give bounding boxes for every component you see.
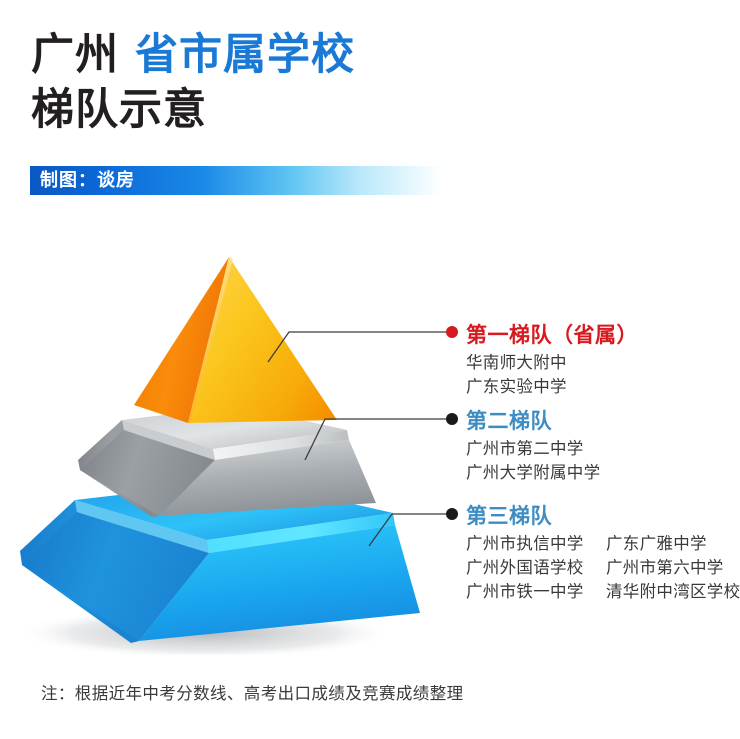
tier-3-school-2a: 广州外国语学校 [466, 556, 606, 580]
pyramid-tier-1-apex [134, 257, 337, 423]
tier-1-school-1: 华南师大附中 [466, 351, 638, 375]
tier-annotation-3: 第三梯队 广州市执信中学 广东广雅中学 广州外国语学校 广州市第六中学 广州市铁… [466, 503, 740, 604]
tier-1-school-2: 广东实验中学 [466, 375, 638, 399]
page-title-category: 省市属学校 [135, 30, 355, 80]
tier-annotation-2: 第二梯队 广州市第二中学 广州大学附属中学 [466, 408, 600, 485]
tier-3-school-3a: 广州市铁一中学 [466, 580, 606, 604]
tier-3-school-row-2: 广州外国语学校 广州市第六中学 [466, 556, 740, 580]
tier-3-school-1a: 广州市执信中学 [466, 532, 606, 556]
tier-3-school-row-1: 广州市执信中学 广东广雅中学 [466, 532, 740, 556]
tier-2-school-2: 广州大学附属中学 [466, 461, 600, 485]
tier-3-school-2b: 广州市第六中学 [606, 556, 724, 580]
page-title-city: 广州 [31, 30, 119, 80]
tier-3-school-row-3: 广州市铁一中学 清华附中湾区学校 [466, 580, 740, 604]
page-title-line-2: 梯队示意 [31, 89, 207, 132]
footnote: 注：根据近年中考分数线、高考出口成绩及竞赛成绩整理 [41, 683, 464, 705]
tier-annotation-1: 第一梯队（省属） 华南师大附中 广东实验中学 [466, 322, 638, 399]
tier-3-school-1b: 广东广雅中学 [606, 532, 707, 556]
tier-3-school-3b: 清华附中湾区学校 [606, 580, 740, 604]
credit-label: 制图：谈房 [40, 171, 135, 191]
tier-2-school-1: 广州市第二中学 [466, 437, 600, 461]
pyramid-diagram [0, 235, 470, 655]
tier-1-heading: 第一梯队（省属） [466, 322, 638, 348]
infographic-page: 广州 省市属学校 梯队示意 制图：谈房 [0, 0, 740, 739]
tier-3-heading: 第三梯队 [466, 503, 740, 529]
page-title-line-1: 广州 省市属学校 [31, 34, 355, 77]
tier-2-heading: 第二梯队 [466, 408, 600, 434]
